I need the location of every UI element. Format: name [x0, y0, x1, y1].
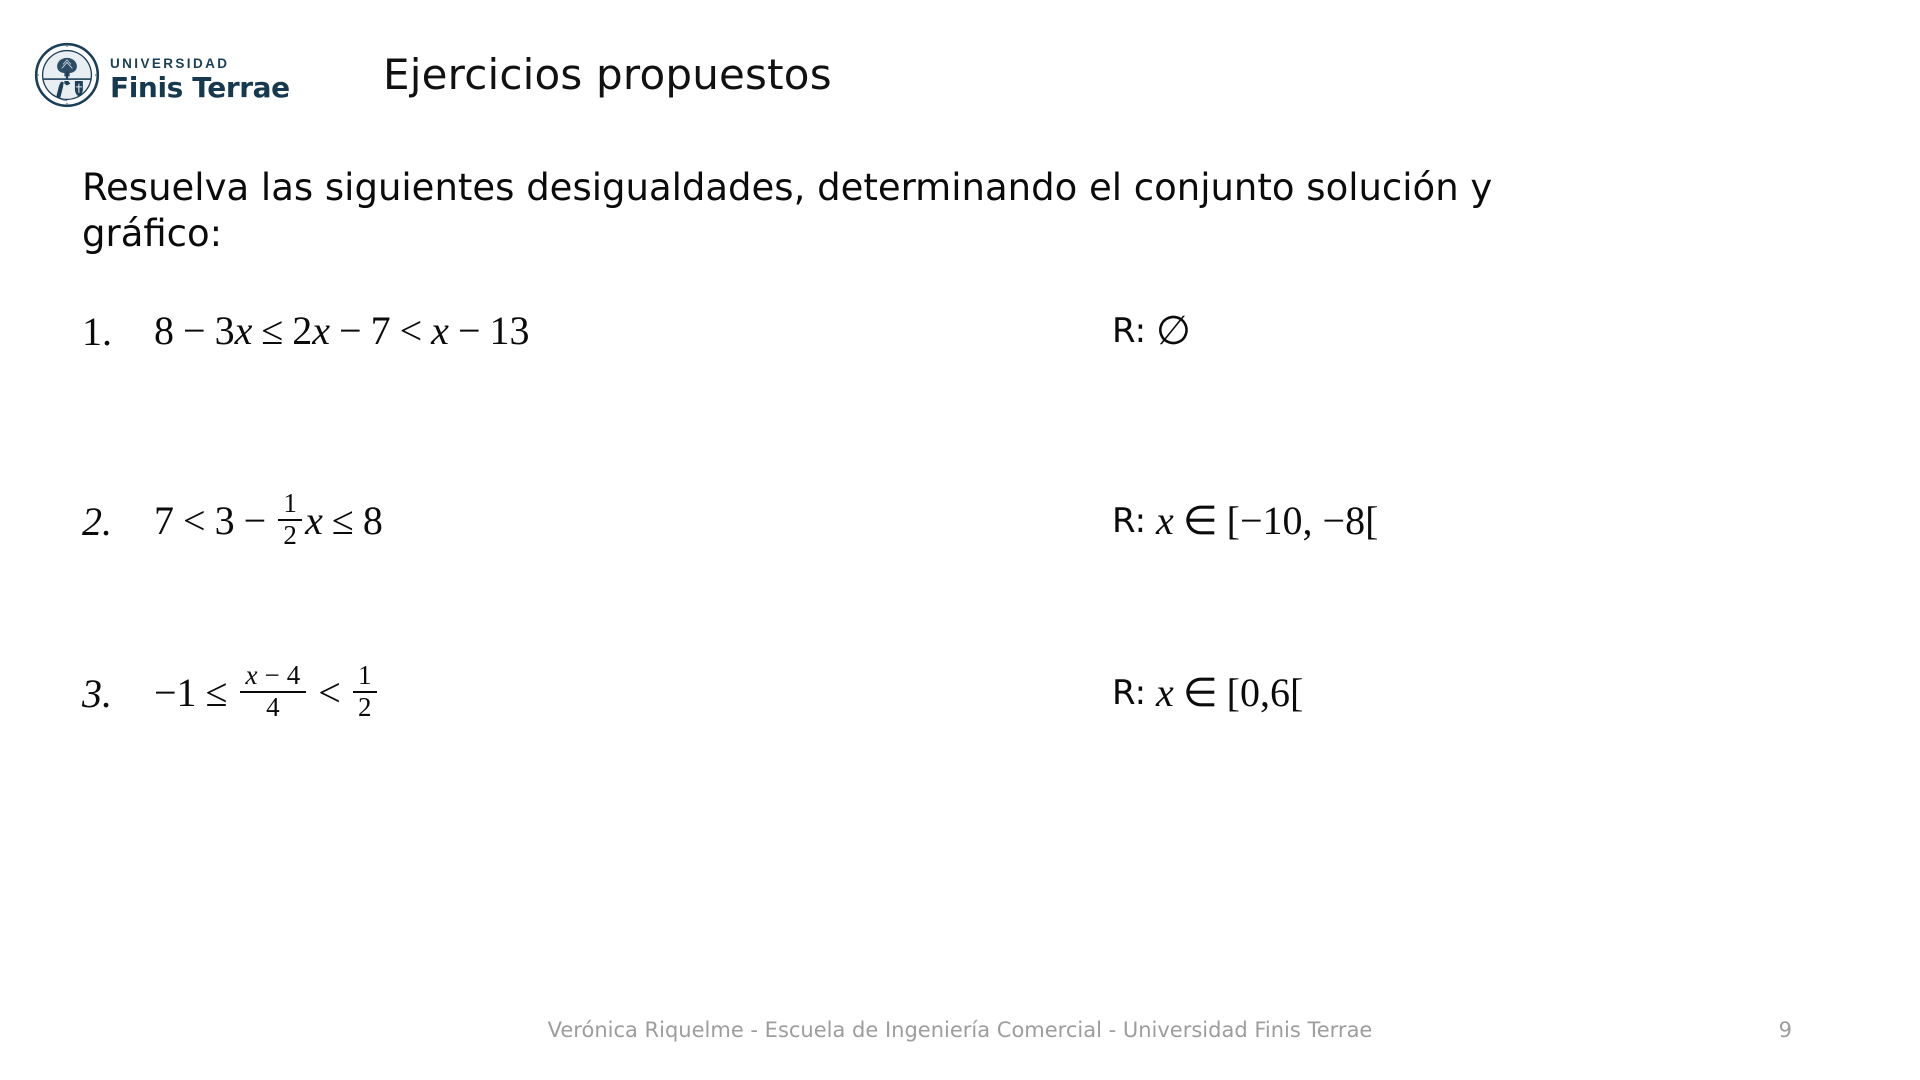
expr2-frac-denominator: 2: [279, 521, 301, 550]
expr1-var1: x: [235, 311, 253, 351]
slide: UNIVERSIDAD Finis Terrae Ejercicios prop…: [0, 0, 1920, 1080]
expr3-frac1-denominator: 4: [260, 693, 286, 722]
expr3-rel2: <: [318, 673, 341, 713]
footer-attribution: Verónica Riquelme - Escuela de Ingenierí…: [548, 1018, 1373, 1042]
exercise-item-3: 3. −1 ≤ x−4 4 < 1 2: [82, 645, 1827, 741]
instructions-line-1: Resuelva las siguientes desigualdades, d…: [82, 165, 1827, 211]
expr1-term-a: 8: [154, 311, 174, 351]
expr1-op2: −: [339, 311, 362, 351]
expr3-frac1-num-val: 4: [287, 660, 301, 690]
expr1-op3: −: [458, 311, 481, 351]
exercise-number-2: 2.: [82, 500, 154, 542]
expr2-frac-numerator: 1: [279, 490, 301, 519]
answer-label-2: R:: [1112, 504, 1146, 538]
expr1-rel1: ≤: [261, 311, 283, 351]
answer-label-3: R:: [1112, 676, 1146, 710]
expr3-frac2-numerator: 1: [354, 662, 376, 691]
exercise-answer-1: R: ∅: [1112, 311, 1191, 351]
slide-header: UNIVERSIDAD Finis Terrae Ejercicios prop…: [0, 0, 1920, 150]
page-number: 9: [1779, 1018, 1792, 1042]
expr1-var3: x: [431, 311, 449, 351]
instructions-line-2: gráfico:: [82, 211, 1827, 257]
slide-footer: Verónica Riquelme - Escuela de Ingenierí…: [0, 990, 1920, 1080]
expr3-frac1-num-op: −: [265, 660, 280, 690]
expr1-rel2: <: [400, 311, 423, 351]
logo-wordmark-bottom: Finis Terrae: [110, 74, 290, 102]
exercise-expression-1: 8 − 3 x ≤ 2 x − 7 < x − 13: [154, 311, 530, 351]
exercise-expression-2: 7 < 3 − 1 2 x ≤ 8: [154, 491, 383, 550]
expr3-fraction-x-minus-4-over-4: x−4 4: [240, 662, 307, 721]
university-logo: UNIVERSIDAD Finis Terrae: [34, 42, 290, 113]
expr3-rel1: ≤: [206, 673, 228, 713]
answer-membership-2: ∈: [1183, 501, 1218, 541]
expr1-term-d: 7: [371, 311, 391, 351]
expr2-fraction-one-half: 1 2: [278, 490, 302, 549]
expr2-term-a: 7: [154, 501, 174, 541]
expr2-rel1: <: [183, 501, 206, 541]
expr1-coef-c: 2: [292, 311, 312, 351]
expr3-term-a: −1: [154, 673, 197, 713]
expr2-term-c: 8: [363, 501, 383, 541]
expr3-fraction-one-half: 1 2: [353, 662, 377, 721]
answer-value-1: ∅: [1156, 311, 1191, 351]
expr1-term-e: 13: [490, 311, 530, 351]
expr2-op1: −: [244, 501, 267, 541]
logo-wordmark: UNIVERSIDAD Finis Terrae: [110, 53, 290, 102]
answer-interval-2: [−10, −8[: [1227, 501, 1379, 541]
expr1-var2: x: [312, 311, 330, 351]
instructions-paragraph: Resuelva las siguientes desigualdades, d…: [82, 165, 1827, 257]
expr1-op1: −: [183, 311, 206, 351]
exercise-item-1: 1. 8 − 3 x ≤ 2 x − 7 < x − 13 R: [82, 283, 1827, 379]
answer-var-3: x: [1156, 673, 1174, 713]
answer-var-2: x: [1156, 501, 1174, 541]
exercise-list: 1. 8 − 3 x ≤ 2 x − 7 < x − 13 R: [82, 283, 1827, 741]
exercise-number-3: 3.: [82, 672, 154, 714]
exercise-answer-2: R: x ∈ [−10, −8[: [1112, 501, 1378, 541]
answer-label-1: R:: [1112, 314, 1146, 348]
logo-wordmark-top: UNIVERSIDAD: [110, 57, 290, 71]
exercise-expression-3: −1 ≤ x−4 4 < 1 2: [154, 663, 380, 722]
exercise-item-2: 2. 7 < 3 − 1 2 x ≤ 8 R:: [82, 473, 1827, 569]
expr3-frac1-num-var: x: [246, 660, 258, 690]
answer-membership-3: ∈: [1183, 673, 1218, 713]
exercise-answer-3: R: x ∈ [0,6[: [1112, 673, 1303, 713]
exercise-number-1: 1.: [82, 310, 154, 352]
page-title: Ejercicios propuestos: [383, 50, 832, 99]
expr2-var1: x: [305, 501, 323, 541]
expr3-frac2-denominator: 2: [354, 693, 376, 722]
university-seal-icon: [34, 42, 100, 113]
expr2-term-b: 3: [215, 501, 235, 541]
expr1-coef-b: 3: [215, 311, 235, 351]
expr3-frac1-numerator: x−4: [240, 662, 307, 691]
expr2-rel2: ≤: [332, 501, 354, 541]
slide-body: Resuelva las siguientes desigualdades, d…: [82, 165, 1827, 741]
answer-interval-3: [0,6[: [1227, 673, 1304, 713]
